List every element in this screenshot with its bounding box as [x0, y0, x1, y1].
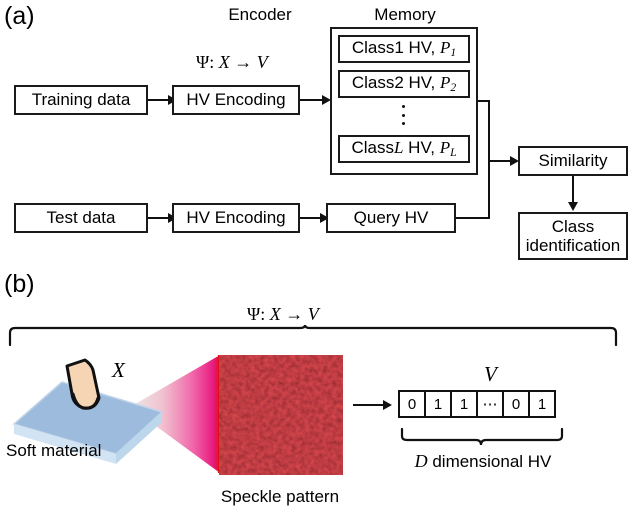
mapping-arrow: →: [234, 52, 252, 72]
hv-dimension-caption: D dimensional HV: [400, 452, 566, 470]
arrow-line-test-to-encoding: [148, 217, 170, 219]
mapping-domain-b: X: [270, 304, 281, 324]
hv-dimension-symbol: D: [415, 451, 428, 471]
memory-row-classL-symbol: P: [440, 138, 450, 157]
memory-row-class2-prefix: Class2 HV,: [352, 73, 435, 92]
mapping-arrow-b: →: [285, 304, 303, 324]
memory-row-classL-suffix: HV,: [403, 138, 435, 157]
output-symbol-V-text: V: [484, 362, 497, 386]
memory-row-class1-symbol: P: [440, 38, 450, 57]
arrow-line-encoding-to-query: [300, 217, 322, 219]
soft-material-caption: Soft material: [6, 442, 156, 459]
psi-symbol-b: Ψ: [247, 304, 260, 324]
memory-heading: Memory: [345, 6, 465, 23]
mapping-codomain: V: [257, 52, 268, 72]
arrow-head-speckle-to-hv: [383, 400, 392, 410]
arrow-line-speckle-to-hv: [353, 404, 385, 406]
mapping-colon: :: [209, 52, 214, 72]
memory-row-classL-text: ClassL HV, PL: [351, 138, 456, 160]
encoder-heading: Encoder: [200, 6, 320, 23]
mapping-codomain-b: V: [308, 304, 319, 324]
figure-root: (a) Encoder Memory Ψ: X → V Training dat…: [0, 0, 640, 520]
arrow-head-similarity-to-class: [568, 202, 578, 211]
hypervector-cells: 011⋯01: [398, 390, 556, 418]
memory-row-class2-text: Class2 HV, P2: [352, 73, 456, 95]
box-hv-encoding-train[interactable]: HV Encoding: [172, 85, 300, 115]
speckle-pattern-caption: Speckle pattern: [205, 488, 355, 505]
box-hv-encoding-test[interactable]: HV Encoding: [172, 203, 300, 233]
bus-line-vertical: [488, 100, 490, 162]
bus-line-query-out: [455, 217, 490, 219]
input-symbol-X-text: X: [112, 358, 125, 382]
encoder-mapping-label: Ψ: X → V: [196, 53, 268, 71]
hv-dimension-text: dimensional HV: [428, 452, 552, 471]
hv-dimension-brace: [400, 428, 564, 448]
panel-b-label: (b): [4, 272, 35, 297]
arrow-line-similarity-to-class: [572, 176, 574, 204]
memory-row-class1-subscript: 1: [450, 46, 456, 59]
hv-cell-2[interactable]: 1: [450, 390, 478, 418]
memory-row-class1-prefix: Class1 HV,: [352, 38, 435, 57]
box-similarity[interactable]: Similarity: [518, 146, 628, 176]
box-training-data[interactable]: Training data: [14, 85, 148, 115]
output-symbol-V: V: [484, 364, 497, 385]
memory-row-classL-prefix: Class: [351, 138, 394, 157]
panel-b-top-brace: [8, 325, 618, 347]
box-query-hv[interactable]: Query HV: [326, 203, 456, 233]
box-test-data[interactable]: Test data: [14, 203, 148, 233]
memory-row-class1[interactable]: Class1 HV, P1: [338, 35, 470, 63]
input-symbol-X: X: [112, 360, 125, 381]
psi-symbol: Ψ: [196, 52, 209, 72]
memory-ellipsis: [402, 105, 405, 125]
memory-row-class2-subscript: 2: [450, 81, 456, 94]
memory-row-classL[interactable]: ClassL HV, PL: [338, 135, 470, 163]
speckle-pattern-image: [219, 355, 343, 475]
panel-b-mapping-label: Ψ: X → V: [247, 305, 319, 323]
finger-stylus-icon: [55, 358, 115, 420]
mapping-domain: X: [219, 52, 230, 72]
hv-cell-0[interactable]: 0: [398, 390, 426, 418]
bus-line-vertical-lower: [488, 160, 490, 219]
hv-cell-1[interactable]: 1: [424, 390, 452, 418]
memory-row-class2[interactable]: Class2 HV, P2: [338, 70, 470, 98]
box-class-identification[interactable]: Class identification: [518, 212, 628, 260]
hv-cell-5[interactable]: 1: [528, 390, 556, 418]
memory-row-classL-subscript: L: [450, 146, 456, 159]
panel-a-label: (a): [4, 4, 35, 29]
hv-cell-4[interactable]: 0: [502, 390, 530, 418]
class-identification-line1: Class: [552, 217, 595, 236]
hv-cell-3[interactable]: ⋯: [476, 390, 504, 418]
class-identification-line2: identification: [526, 236, 621, 255]
mapping-colon-b: :: [260, 304, 265, 324]
memory-row-class1-text: Class1 HV, P1: [352, 38, 456, 60]
memory-row-class2-symbol: P: [440, 73, 450, 92]
arrow-line-training-to-encoding: [148, 99, 170, 101]
